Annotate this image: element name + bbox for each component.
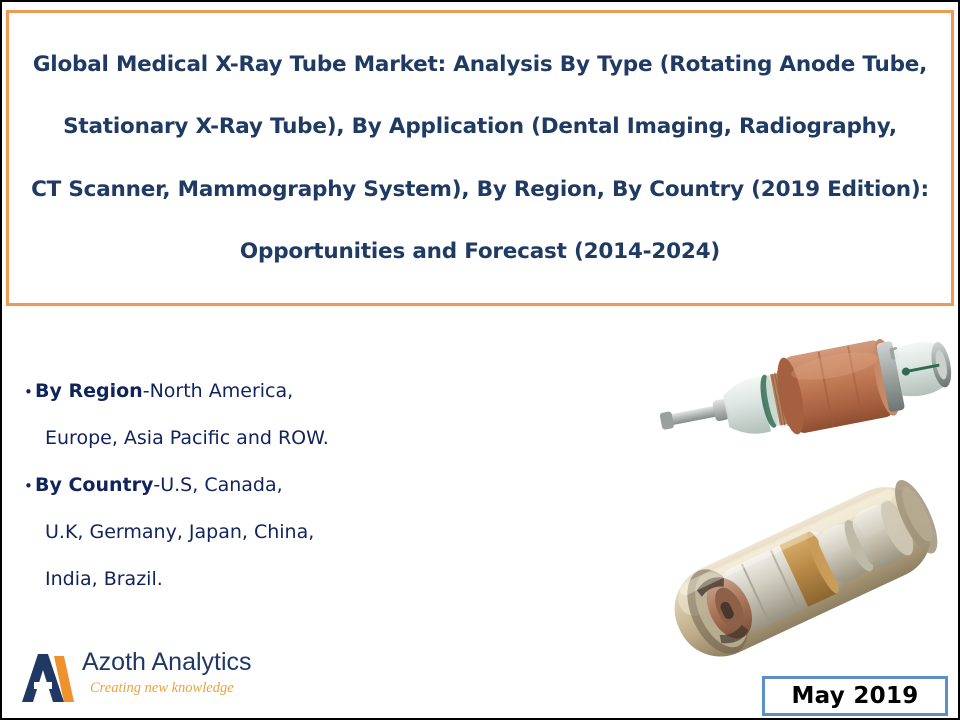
list-item: • By Country - U.S, Canada, <box>24 476 444 495</box>
segmentation-value-country-cont-2: India, Brazil. <box>24 570 444 589</box>
title-line-2: Stationary X-Ray Tube), By Application (… <box>21 116 939 138</box>
segmentation-value-country: U.S, Canada, <box>160 476 282 495</box>
segmentation-label-country: By Country <box>35 476 153 495</box>
publication-date-text: May 2019 <box>791 685 918 708</box>
list-item: • By Region - North America, <box>24 382 444 401</box>
bullet-dot-icon: • <box>24 385 35 400</box>
stationary-x-ray-tube-image <box>642 470 960 670</box>
segmentation-separator: - <box>153 476 160 495</box>
company-name: Azoth Analytics <box>82 650 292 675</box>
title-line-3: CT Scanner, Mammography System), By Regi… <box>21 179 939 201</box>
publication-date-badge: May 2019 <box>762 676 948 716</box>
report-cover-page: Global Medical X-Ray Tube Market: Analys… <box>0 0 960 720</box>
company-tagline: Creating new knowledge <box>90 681 292 696</box>
logo-text: Azoth Analytics Creating new knowledge <box>82 650 292 696</box>
segmentation-list: • By Region - North America, Europe, Asi… <box>24 382 444 617</box>
cover-body: • By Region - North America, Europe, Asi… <box>6 310 954 716</box>
title-line-4: Opportunities and Forecast (2014-2024) <box>21 241 939 263</box>
azoth-a-mark-icon <box>20 652 76 704</box>
report-title: Global Medical X-Ray Tube Market: Analys… <box>9 54 951 263</box>
bullet-dot-icon: • <box>24 479 35 494</box>
title-frame: Global Medical X-Ray Tube Market: Analys… <box>6 10 954 306</box>
segmentation-label-region: By Region <box>35 382 143 401</box>
segmentation-value-region-cont: Europe, Asia Pacific and ROW. <box>24 429 444 448</box>
segmentation-separator: - <box>143 382 150 401</box>
company-logo: Azoth Analytics Creating new knowledge <box>20 648 290 710</box>
segmentation-value-region: North America, <box>150 382 294 401</box>
title-line-1: Global Medical X-Ray Tube Market: Analys… <box>21 54 939 76</box>
segmentation-value-country-cont-1: U.K, Germany, Japan, China, <box>24 523 444 542</box>
rotating-anode-tube-image <box>656 332 956 452</box>
